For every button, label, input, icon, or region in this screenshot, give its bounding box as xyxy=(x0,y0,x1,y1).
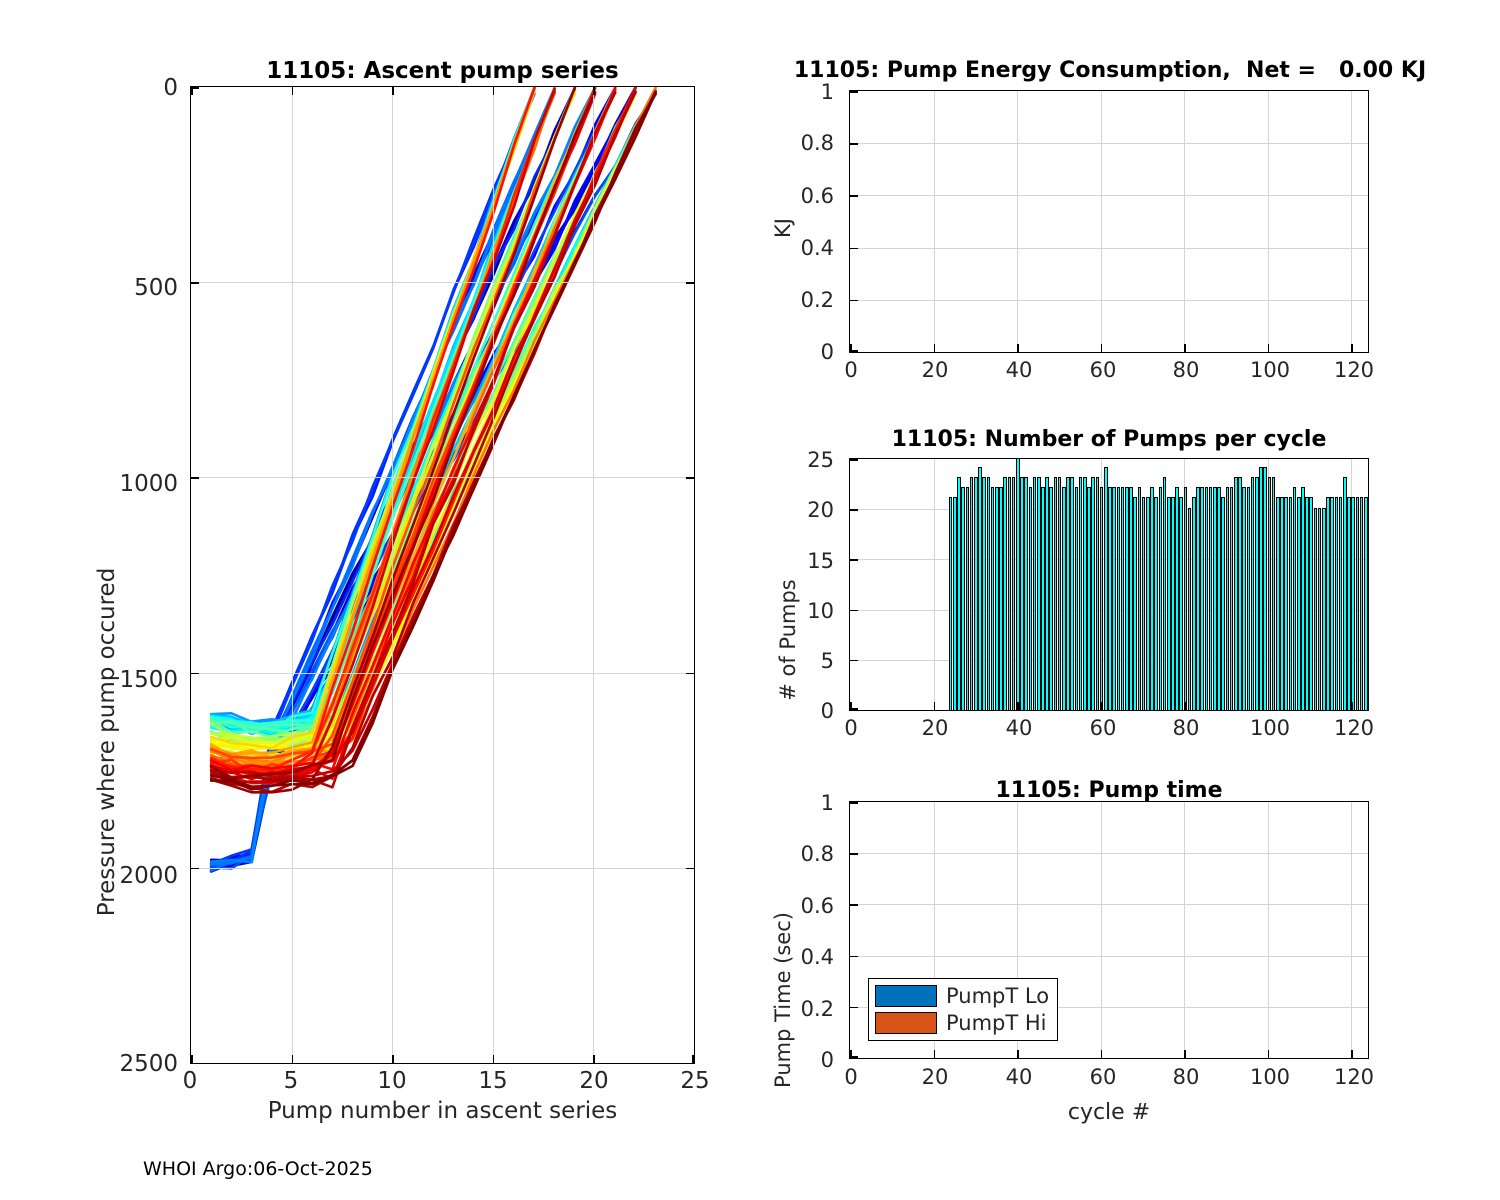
gridline-x-15 xyxy=(493,87,494,1063)
xtick-15 xyxy=(493,1055,495,1063)
e-yticklabel-0: 0 xyxy=(770,340,834,364)
bar-cycle-44 xyxy=(1033,477,1037,710)
bar-cycle-42 xyxy=(1024,477,1028,710)
xticklabel-25: 25 xyxy=(680,1068,709,1094)
bar-cycle-116 xyxy=(1335,497,1339,710)
bar-cycle-111 xyxy=(1314,508,1318,710)
n-xticklabel-60: 60 xyxy=(1090,716,1117,740)
bar-cycle-102 xyxy=(1276,497,1280,710)
bar-cycle-81 xyxy=(1188,508,1192,710)
bar-cycle-76 xyxy=(1167,497,1171,710)
gridline-x-80 xyxy=(1184,91,1185,352)
yticklabel-2000: 2000 xyxy=(110,863,178,889)
ascent-line-cycle-68 xyxy=(211,93,595,758)
bar-cycle-89 xyxy=(1221,497,1225,710)
n-yticklabel-0: 0 xyxy=(770,699,834,723)
ytick-r-1500 xyxy=(686,673,694,675)
gridline-y-06 xyxy=(850,904,1368,905)
bar-cycle-61 xyxy=(1104,467,1108,710)
xtick-120 xyxy=(1351,1050,1353,1058)
bar-cycle-87 xyxy=(1213,487,1217,710)
yticklabel-1000: 1000 xyxy=(110,471,178,497)
pump-time-legend: PumpT Lo PumpT Hi xyxy=(868,978,1058,1041)
bar-cycle-90 xyxy=(1226,487,1230,710)
bar-cycle-58 xyxy=(1091,477,1095,710)
xtick-80 xyxy=(1184,344,1186,352)
ytick-20 xyxy=(850,509,858,511)
ytick-r-2000 xyxy=(686,868,694,870)
xtick-0 xyxy=(191,1055,193,1063)
n-yticklabel-15: 15 xyxy=(770,549,834,573)
gridline-x-60 xyxy=(1101,91,1102,352)
gridline-y-1500 xyxy=(191,673,694,674)
yticklabel-1500: 1500 xyxy=(110,667,178,693)
e-yticklabel-08: 0.8 xyxy=(770,131,834,155)
e-xticklabel-80: 80 xyxy=(1173,358,1200,382)
gridline-x-20 xyxy=(593,87,594,1063)
bar-cycle-91 xyxy=(1230,487,1234,710)
energy-yaxis-label: KJ xyxy=(771,218,795,238)
bar-cycle-100 xyxy=(1268,477,1272,710)
t-xticklabel-100: 100 xyxy=(1250,1065,1290,1089)
bar-cycle-115 xyxy=(1330,497,1334,710)
gridline-y-04 xyxy=(850,248,1368,249)
bar-cycle-123 xyxy=(1364,497,1368,710)
legend-item-pumpt-lo: PumpT Lo xyxy=(875,984,1049,1008)
xtick-top-20 xyxy=(593,87,595,95)
pumps-panel-title: 11105: Number of Pumps per cycle xyxy=(849,427,1369,452)
xtick-40 xyxy=(1017,702,1019,710)
t-xticklabel-80: 80 xyxy=(1173,1065,1200,1089)
bar-cycle-80 xyxy=(1184,487,1188,710)
bar-cycle-77 xyxy=(1171,497,1175,710)
ytick-08 xyxy=(850,853,858,855)
ytick-2000 xyxy=(191,868,199,870)
bar-cycle-104 xyxy=(1284,497,1288,710)
ytick-04 xyxy=(850,956,858,958)
bar-cycle-74 xyxy=(1159,487,1163,710)
gridline-y-2000 xyxy=(191,868,694,869)
gridline-x-10 xyxy=(392,87,393,1063)
gridline-y-06 xyxy=(850,195,1368,196)
t-yticklabel-08: 0.8 xyxy=(770,842,834,866)
bar-cycle-50 xyxy=(1058,477,1062,710)
gridline-x-60 xyxy=(1101,802,1102,1058)
bar-cycle-88 xyxy=(1217,487,1221,710)
bar-cycle-34 xyxy=(991,487,995,710)
bar-cycle-95 xyxy=(1247,487,1251,710)
energy-panel-title: 11105: Pump Energy Consumption, Net = 0.… xyxy=(760,58,1460,83)
n-yticklabel-25: 25 xyxy=(770,448,834,472)
bar-cycle-96 xyxy=(1251,477,1255,710)
bar-cycle-38 xyxy=(1008,477,1012,710)
pump-time-axes: PumpT Lo PumpT Hi xyxy=(849,801,1369,1059)
gridline-y-500 xyxy=(191,282,694,283)
bar-cycle-84 xyxy=(1200,487,1204,710)
ascent-pump-series-axes xyxy=(190,86,695,1064)
e-xticklabel-0: 0 xyxy=(844,358,857,382)
xticklabel-15: 15 xyxy=(478,1068,507,1094)
xtick-80 xyxy=(1184,1050,1186,1058)
ytick-0 xyxy=(850,708,858,710)
bar-cycle-24 xyxy=(949,497,953,710)
xtick-20 xyxy=(934,702,936,710)
bar-cycle-79 xyxy=(1179,497,1183,710)
xtick-60 xyxy=(1101,702,1103,710)
gridline-y-08 xyxy=(850,143,1368,144)
ytick-0 xyxy=(850,1056,858,1058)
yticklabel-500: 500 xyxy=(110,275,178,301)
ytick-06 xyxy=(850,904,858,906)
bar-cycle-83 xyxy=(1196,487,1200,710)
pump-energy-axes xyxy=(849,90,1369,353)
bar-cycle-106 xyxy=(1293,487,1297,710)
t-xticklabel-20: 20 xyxy=(922,1065,949,1089)
gridline-y-08 xyxy=(850,853,1368,854)
bar-cycle-73 xyxy=(1154,497,1158,710)
bar-cycle-26 xyxy=(957,477,961,710)
pumps-per-cycle-bars xyxy=(850,459,1368,710)
ytick-06 xyxy=(850,195,858,197)
bar-cycle-56 xyxy=(1083,477,1087,710)
bar-cycle-114 xyxy=(1326,497,1330,710)
footer-credit: WHOI Argo:06-Oct-2025 xyxy=(143,1158,373,1180)
e-xticklabel-40: 40 xyxy=(1006,358,1033,382)
ascent-line-cycle-18 xyxy=(211,94,534,867)
bar-cycle-109 xyxy=(1305,497,1309,710)
bar-cycle-119 xyxy=(1347,497,1351,710)
gridline-x-40 xyxy=(1017,91,1018,352)
pumptime-yaxis-label: Pump Time (sec) xyxy=(771,912,795,1088)
bar-cycle-33 xyxy=(987,477,991,710)
legend-label-pumpt-lo: PumpT Lo xyxy=(946,984,1049,1008)
legend-label-pumpt-hi: PumpT Hi xyxy=(946,1011,1047,1035)
e-xticklabel-60: 60 xyxy=(1090,358,1117,382)
bar-cycle-39 xyxy=(1012,477,1016,710)
gridline-y-04 xyxy=(850,956,1368,957)
bar-cycle-25 xyxy=(953,497,957,710)
bar-cycle-63 xyxy=(1112,487,1116,710)
bar-cycle-49 xyxy=(1054,477,1058,710)
bar-cycle-37 xyxy=(1003,477,1007,710)
bar-cycle-85 xyxy=(1205,487,1209,710)
xtick-20 xyxy=(593,1055,595,1063)
bar-cycle-92 xyxy=(1234,477,1238,710)
ytick-1500 xyxy=(191,673,199,675)
pumptime-xaxis-label: cycle # xyxy=(849,1100,1369,1125)
xtick-20 xyxy=(934,344,936,352)
xtick-10 xyxy=(392,1055,394,1063)
bar-cycle-107 xyxy=(1297,497,1301,710)
ytick-1 xyxy=(850,91,858,93)
bar-cycle-71 xyxy=(1146,497,1150,710)
ascent-line-cycle-98 xyxy=(211,92,595,778)
ytick-15 xyxy=(850,559,858,561)
ytick-02 xyxy=(850,1007,858,1009)
bar-cycle-59 xyxy=(1096,477,1100,710)
bar-cycle-93 xyxy=(1238,477,1242,710)
bar-cycle-86 xyxy=(1209,487,1213,710)
bar-cycle-52 xyxy=(1066,477,1070,710)
gridline-x-80 xyxy=(1184,802,1185,1058)
e-xticklabel-100: 100 xyxy=(1250,358,1290,382)
bar-cycle-66 xyxy=(1125,487,1129,710)
bar-cycle-105 xyxy=(1289,497,1293,710)
n-yticklabel-20: 20 xyxy=(770,498,834,522)
bar-cycle-97 xyxy=(1255,477,1259,710)
xtick-60 xyxy=(1101,344,1103,352)
bar-cycle-117 xyxy=(1339,497,1343,710)
ytick-1000 xyxy=(191,477,199,479)
bar-cycle-122 xyxy=(1360,497,1364,710)
ytick-r-1000 xyxy=(686,477,694,479)
ascent-pump-lines xyxy=(191,87,696,1065)
n-xticklabel-120: 120 xyxy=(1334,716,1374,740)
bar-cycle-60 xyxy=(1100,487,1104,710)
bar-cycle-30 xyxy=(974,477,978,710)
xticklabel-20: 20 xyxy=(579,1068,608,1094)
gridline-y-02 xyxy=(850,300,1368,301)
left-panel-title: 11105: Ascent pump series xyxy=(190,58,695,84)
ytick-r-500 xyxy=(686,282,694,284)
ytick-25 xyxy=(850,459,858,461)
left-xaxis-label: Pump number in ascent series xyxy=(190,1098,695,1124)
xtick-60 xyxy=(1101,1050,1103,1058)
bar-cycle-75 xyxy=(1163,477,1167,710)
bar-cycle-31 xyxy=(978,467,982,710)
xtick-120 xyxy=(1351,344,1353,352)
bar-cycle-101 xyxy=(1272,477,1276,710)
n-xticklabel-20: 20 xyxy=(922,716,949,740)
gridline-x-5 xyxy=(292,87,293,1063)
xtick-40 xyxy=(1017,1050,1019,1058)
bar-cycle-43 xyxy=(1029,487,1033,710)
xtick-25 xyxy=(692,1055,694,1063)
ytick-0 xyxy=(191,87,199,89)
bar-cycle-120 xyxy=(1351,497,1355,710)
e-yticklabel-04: 0.4 xyxy=(770,236,834,260)
bar-cycle-112 xyxy=(1318,508,1322,710)
t-xticklabel-0: 0 xyxy=(844,1065,857,1089)
bar-cycle-118 xyxy=(1343,477,1347,710)
n-xticklabel-0: 0 xyxy=(844,716,857,740)
n-xticklabel-80: 80 xyxy=(1173,716,1200,740)
ytick-04 xyxy=(850,248,858,250)
bar-cycle-41 xyxy=(1020,477,1024,710)
bar-cycle-53 xyxy=(1070,477,1074,710)
t-yticklabel-1: 1 xyxy=(770,791,834,815)
xtick-100 xyxy=(1268,344,1270,352)
xtick-top-5 xyxy=(292,87,294,95)
xtick-100 xyxy=(1268,1050,1270,1058)
bar-cycle-35 xyxy=(995,487,999,710)
e-yticklabel-02: 0.2 xyxy=(770,288,834,312)
n-xticklabel-40: 40 xyxy=(1006,716,1033,740)
bar-cycle-70 xyxy=(1142,497,1146,710)
yticklabel-2500: 2500 xyxy=(110,1051,178,1077)
xtick-20 xyxy=(934,1050,936,1058)
ytick-08 xyxy=(850,143,858,145)
xtick-top-10 xyxy=(392,87,394,95)
bar-cycle-40 xyxy=(1016,459,1020,710)
e-yticklabel-1: 1 xyxy=(770,80,834,104)
gridline-y-1000 xyxy=(191,477,694,478)
xticklabel-0: 0 xyxy=(183,1068,198,1094)
ytick-500 xyxy=(191,282,199,284)
bar-cycle-32 xyxy=(982,477,986,710)
bar-cycle-110 xyxy=(1309,497,1313,710)
bar-cycle-121 xyxy=(1356,497,1360,710)
xticklabel-5: 5 xyxy=(284,1068,299,1094)
bar-cycle-57 xyxy=(1087,487,1091,710)
bar-cycle-65 xyxy=(1121,487,1125,710)
bar-cycle-29 xyxy=(970,477,974,710)
ytick-5 xyxy=(850,660,858,662)
gridline-x-20 xyxy=(934,91,935,352)
bar-cycle-103 xyxy=(1280,497,1284,710)
n-xticklabel-100: 100 xyxy=(1250,716,1290,740)
pumps-per-cycle-axes xyxy=(849,458,1369,711)
t-xticklabel-120: 120 xyxy=(1334,1065,1374,1089)
bar-cycle-78 xyxy=(1175,487,1179,710)
bar-cycle-48 xyxy=(1049,487,1053,710)
pumps-yaxis-label: # of Pumps xyxy=(776,579,800,701)
legend-item-pumpt-hi: PumpT Hi xyxy=(875,1011,1049,1035)
t-xticklabel-60: 60 xyxy=(1090,1065,1117,1089)
bar-cycle-69 xyxy=(1138,487,1142,710)
figure-canvas: 11105: Ascent pump series xyxy=(0,0,1500,1200)
xtick-top-15 xyxy=(493,87,495,95)
e-xticklabel-20: 20 xyxy=(922,358,949,382)
xtick-120 xyxy=(1351,702,1353,710)
bar-cycle-67 xyxy=(1129,487,1133,710)
bar-cycle-46 xyxy=(1041,487,1045,710)
xtick-40 xyxy=(1017,344,1019,352)
ytick-10 xyxy=(850,610,858,612)
bar-cycle-98 xyxy=(1259,467,1263,710)
ytick-1 xyxy=(850,802,858,804)
ytick-0 xyxy=(850,350,858,352)
bar-cycle-36 xyxy=(999,487,1003,710)
bar-cycle-82 xyxy=(1192,497,1196,710)
ascent-line-cycle-81 xyxy=(211,93,595,758)
gridline-x-100 xyxy=(1268,802,1269,1058)
legend-swatch-pumpt-lo xyxy=(875,985,937,1007)
gridline-x-120 xyxy=(1351,802,1352,1058)
xticklabel-10: 10 xyxy=(377,1068,406,1094)
bar-cycle-54 xyxy=(1075,487,1079,710)
bar-cycle-55 xyxy=(1079,477,1083,710)
bar-cycle-68 xyxy=(1133,497,1137,710)
legend-swatch-pumpt-hi xyxy=(875,1012,937,1034)
bar-cycle-113 xyxy=(1322,508,1326,710)
bar-cycle-64 xyxy=(1117,487,1121,710)
left-yaxis-label: Pressure where pump occured xyxy=(94,568,120,917)
bar-cycle-108 xyxy=(1301,487,1305,710)
gridline-x-100 xyxy=(1268,91,1269,352)
gridline-x-120 xyxy=(1351,91,1352,352)
pumptime-panel-title: 11105: Pump time xyxy=(849,778,1369,803)
xtick-5 xyxy=(292,1055,294,1063)
bar-cycle-72 xyxy=(1150,487,1154,710)
bar-cycle-51 xyxy=(1062,487,1066,710)
xtick-80 xyxy=(1184,702,1186,710)
e-yticklabel-06: 0.6 xyxy=(770,184,834,208)
bar-cycle-62 xyxy=(1108,487,1112,710)
e-xticklabel-120: 120 xyxy=(1334,358,1374,382)
t-xticklabel-40: 40 xyxy=(1006,1065,1033,1089)
bar-cycle-94 xyxy=(1242,487,1246,710)
bar-cycle-45 xyxy=(1037,477,1041,710)
yticklabel-0: 0 xyxy=(110,75,178,101)
bar-cycle-47 xyxy=(1045,477,1049,710)
xtick-100 xyxy=(1268,702,1270,710)
ytick-02 xyxy=(850,300,858,302)
bar-cycle-27 xyxy=(961,487,965,710)
bar-cycle-99 xyxy=(1263,467,1267,710)
bar-cycle-28 xyxy=(966,487,970,710)
ascent-line-cycle-90 xyxy=(211,94,595,779)
